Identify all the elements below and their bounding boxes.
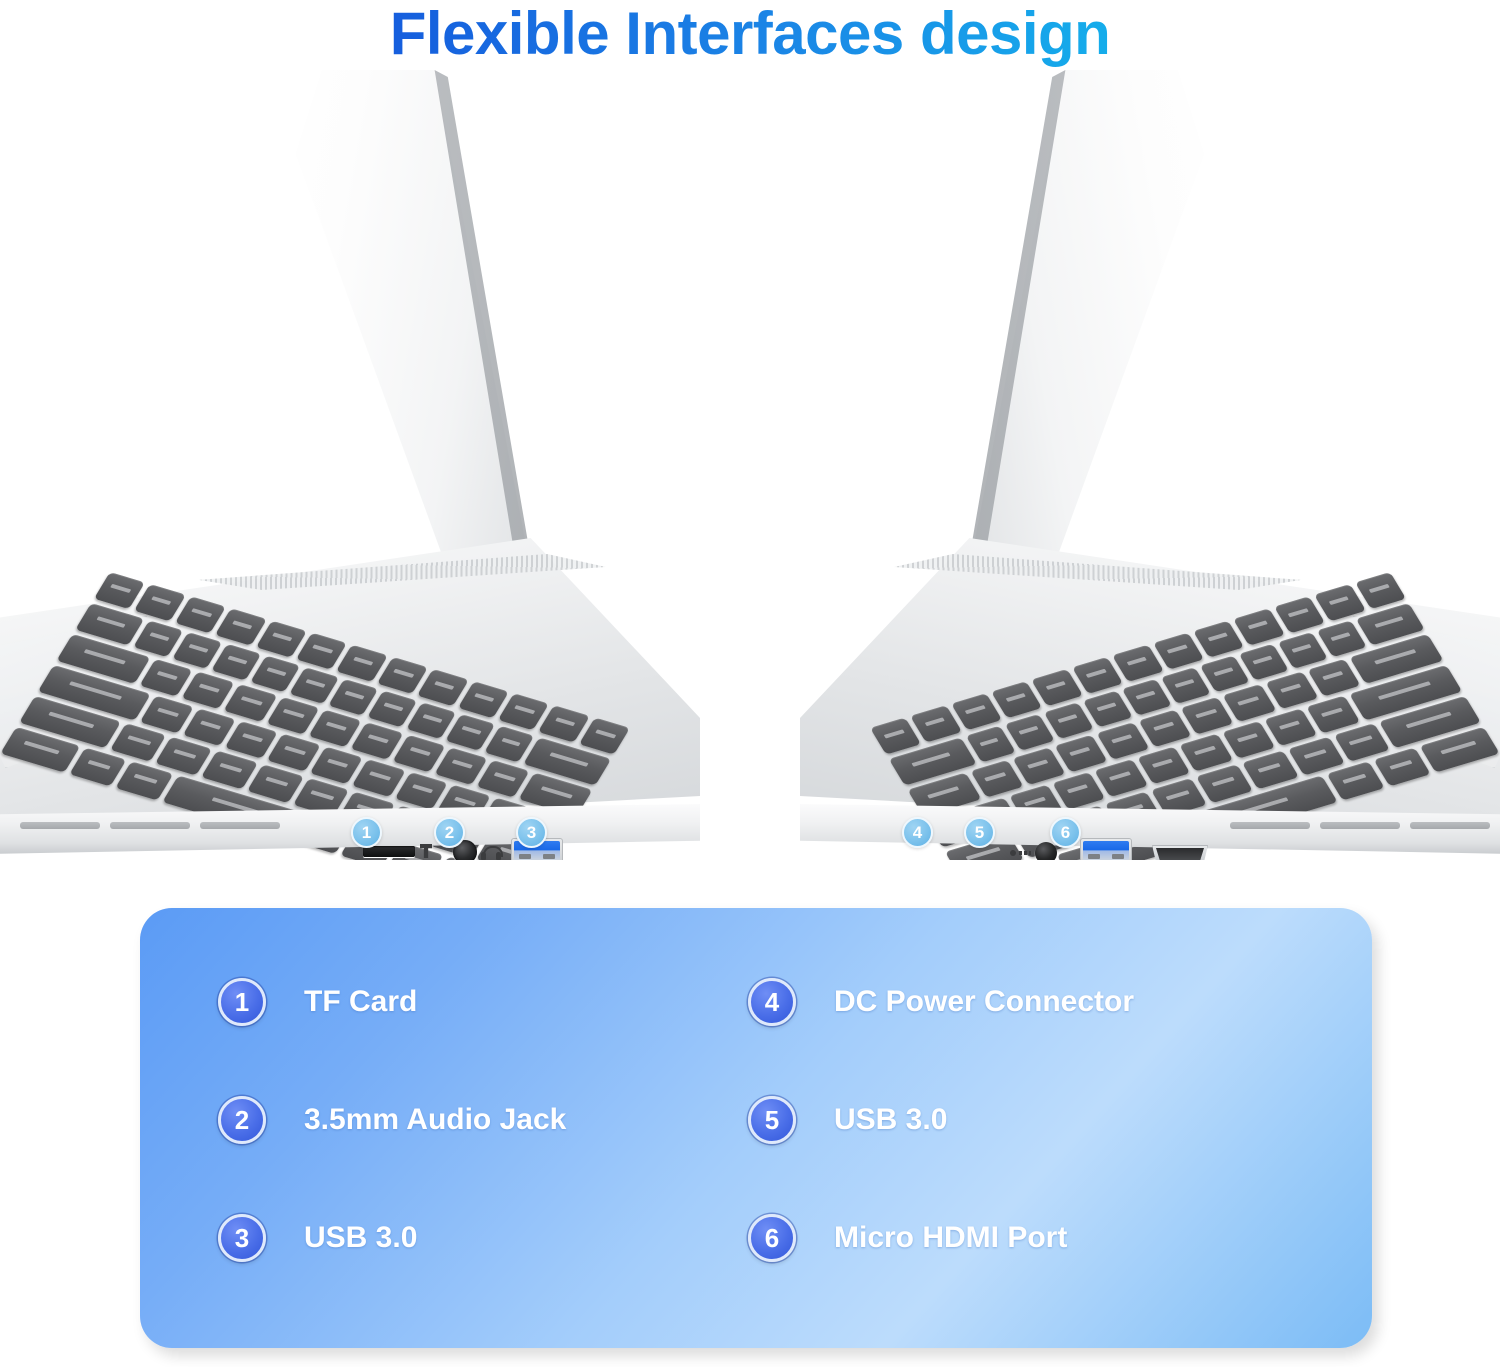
legend-label-1: TF Card — [304, 985, 417, 1019]
callout-badge-1[interactable]: 1 — [351, 817, 382, 848]
legend-item-1[interactable]: 1 TF Card — [218, 972, 417, 1032]
vent-slot — [1230, 822, 1310, 829]
legend-badge-3: 3 — [218, 1214, 266, 1262]
vent-slot — [1320, 822, 1400, 829]
laptop-right — [750, 60, 1500, 860]
headphone-icon — [481, 846, 501, 860]
legend-item-2[interactable]: 2 3.5mm Audio Jack — [218, 1090, 566, 1150]
callout-badge-4[interactable]: 4 — [902, 817, 933, 848]
legend-badge-1: 1 — [218, 978, 266, 1026]
dc-power-connector-port — [1035, 842, 1057, 860]
vent-slot — [110, 822, 190, 829]
callout-badge-5[interactable]: 5 — [964, 817, 995, 848]
legend-item-4[interactable]: 4 DC Power Connector — [748, 972, 1134, 1032]
legend-badge-5: 5 — [748, 1096, 796, 1144]
dc-indicator-dot — [1010, 850, 1016, 856]
legend-badge-4: 4 — [748, 978, 796, 1026]
micro-hdmi-port — [1152, 845, 1208, 860]
vent-slot — [20, 822, 100, 829]
laptop-left — [0, 60, 750, 860]
legend-label-5: USB 3.0 — [834, 1103, 947, 1137]
legend-badge-2: 2 — [218, 1096, 266, 1144]
tf-card-slot-port — [363, 846, 415, 857]
legend-panel: 1 TF Card 2 3.5mm Audio Jack 3 USB 3.0 4… — [140, 908, 1372, 1348]
callout-badge-6[interactable]: 6 — [1050, 817, 1081, 848]
usb-3-0-port-right — [1080, 838, 1132, 860]
legend-label-2: 3.5mm Audio Jack — [304, 1103, 566, 1137]
callout-badge-2[interactable]: 2 — [434, 817, 465, 848]
callout-badge-3[interactable]: 3 — [516, 817, 547, 848]
legend-item-5[interactable]: 5 USB 3.0 — [748, 1090, 947, 1150]
legend-label-6: Micro HDMI Port — [834, 1221, 1067, 1255]
dc-polarity-icon — [1019, 851, 1031, 855]
legend-badge-6: 6 — [748, 1214, 796, 1262]
vent-slot — [200, 822, 280, 829]
legend-item-6[interactable]: 6 Micro HDMI Port — [748, 1208, 1067, 1268]
legend-item-3[interactable]: 3 USB 3.0 — [218, 1208, 417, 1268]
legend-label-4: DC Power Connector — [834, 985, 1134, 1019]
product-photo: 1 2 3 4 5 6 — [0, 60, 1500, 860]
vent-slot — [1410, 822, 1490, 829]
infographic-canvas: Flexible Interfaces design — [0, 0, 1500, 1367]
legend-label-3: USB 3.0 — [304, 1221, 417, 1255]
